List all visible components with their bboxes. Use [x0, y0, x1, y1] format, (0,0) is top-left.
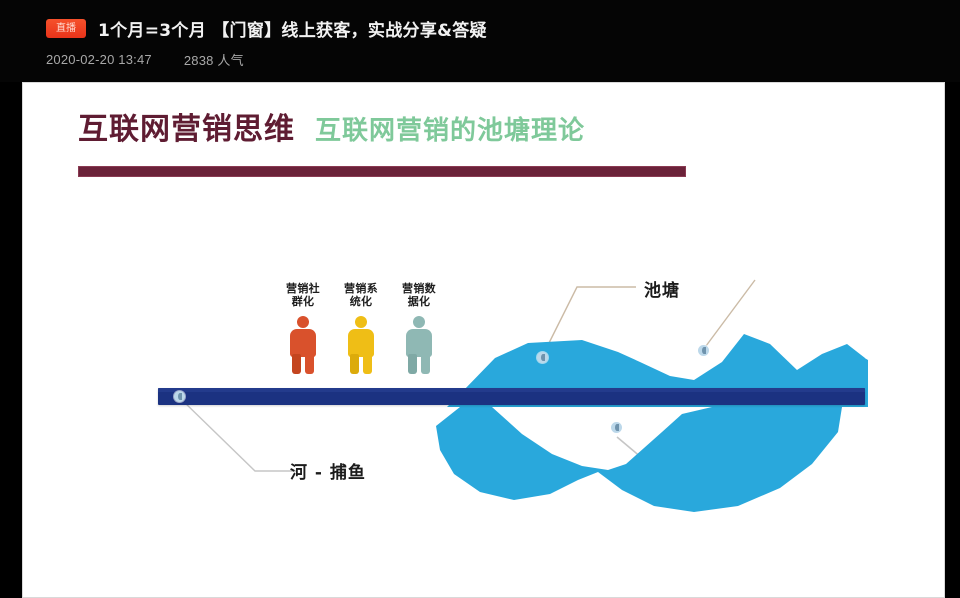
stream-meta-row: 2020-02-20 13:47 2838 人气 — [46, 50, 244, 69]
person-label-3-line1: 营销数 — [387, 282, 451, 295]
marker-river[interactable] — [174, 391, 185, 402]
stream-header: 直播 1个月=3个月 【门窗】线上获客，实战分享&答疑 2020-02-20 1… — [0, 0, 960, 82]
person-label-2-line1: 营销系 — [329, 282, 393, 295]
person-group-2: 营销系 统化 — [329, 282, 393, 374]
stream-view-count: 2838 人气 — [184, 50, 244, 69]
callout-label-river: 河 - 捕鱼 — [290, 458, 366, 483]
pond-theory-diagram: 营销社 群化 营销系 统化 — [22, 82, 945, 598]
person-group-1: 营销社 群化 — [271, 282, 335, 374]
stream-timestamp: 2020-02-20 13:47 — [46, 52, 152, 67]
pond-shapes — [22, 82, 945, 598]
slide-canvas: 互联网营销思维 互联网营销的池塘理论 — [22, 82, 945, 598]
person-label-2-line2: 统化 — [329, 295, 393, 308]
live-badge: 直播 — [46, 19, 86, 38]
person-icon-1 — [286, 316, 320, 374]
person-label-1-line1: 营销社 — [271, 282, 335, 295]
marker-pond-right[interactable] — [698, 345, 709, 356]
person-group-3: 营销数 据化 — [387, 282, 451, 374]
marker-pond-left[interactable] — [537, 352, 548, 363]
person-icon-2 — [344, 316, 378, 374]
person-icon-3 — [402, 316, 436, 374]
page-title: 1个月=3个月 【门窗】线上获客，实战分享&答疑 — [98, 16, 487, 41]
live-replay-page: 直播 1个月=3个月 【门窗】线上获客，实战分享&答疑 2020-02-20 1… — [0, 0, 960, 598]
pond-shape-lower — [436, 407, 842, 512]
person-label-1-line2: 群化 — [271, 295, 335, 308]
marker-pond-lower[interactable] — [611, 422, 622, 433]
stream-title-row: 直播 1个月=3个月 【门窗】线上获客，实战分享&答疑 — [46, 14, 487, 42]
river-bar-highlight — [158, 388, 865, 392]
person-label-3-line2: 据化 — [387, 295, 451, 308]
callout-label-pond: 池塘 — [644, 276, 680, 301]
